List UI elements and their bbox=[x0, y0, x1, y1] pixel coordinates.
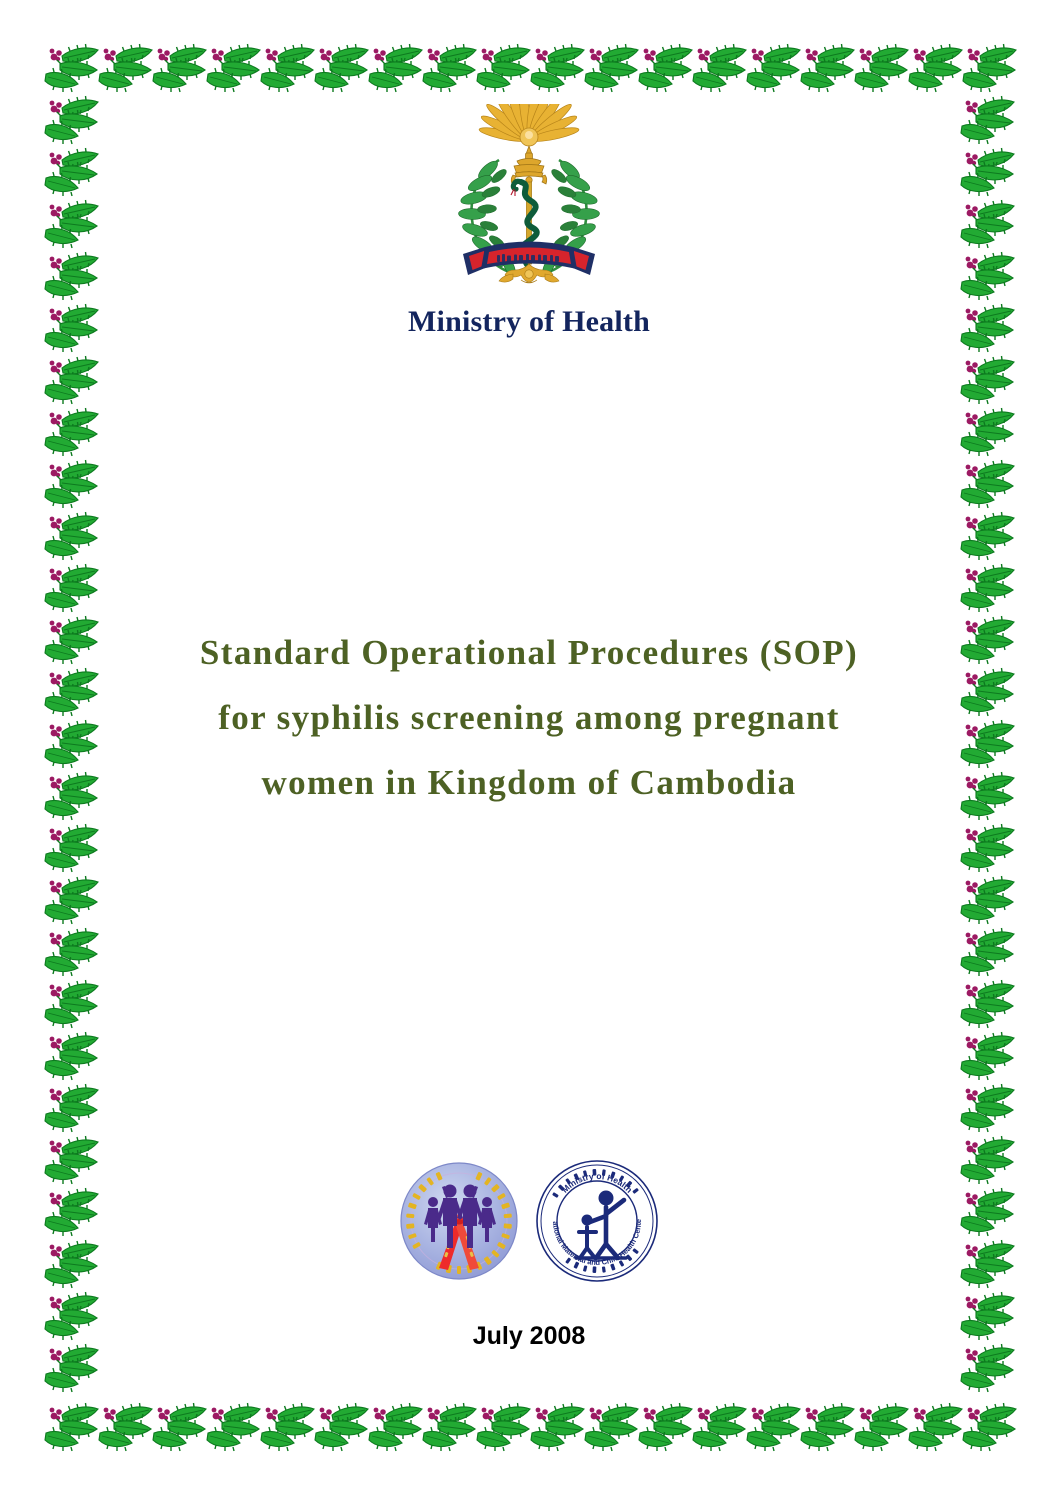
holly-leaf-ornament-icon bbox=[688, 1399, 750, 1457]
title-line-2: for syphilis screening among pregnant bbox=[60, 685, 998, 750]
title-line-3: women in Kingdom of Cambodia bbox=[60, 750, 998, 815]
nmchc-logo: Ministry of Health National Maternal and… bbox=[534, 1158, 660, 1284]
emblem-container bbox=[0, 104, 1058, 299]
holly-leaf-ornament-icon bbox=[958, 40, 1020, 98]
holly-leaf-ornament-icon bbox=[956, 1080, 1018, 1138]
holly-leaf-ornament-icon bbox=[956, 352, 1018, 410]
holly-leaf-ornament-icon bbox=[958, 1399, 1020, 1457]
holly-leaf-ornament-icon bbox=[956, 560, 1018, 618]
holly-leaf-ornament-icon bbox=[40, 560, 102, 618]
holly-leaf-ornament-icon bbox=[956, 404, 1018, 462]
holly-leaf-ornament-icon bbox=[796, 1399, 858, 1457]
holly-leaf-ornament-icon bbox=[526, 40, 588, 98]
holly-leaf-ornament-icon bbox=[310, 1399, 372, 1457]
document-cover-page: Ministry of Health Standard Operational … bbox=[0, 0, 1058, 1497]
holly-leaf-ornament-icon bbox=[472, 40, 534, 98]
holly-leaf-ornament-icon bbox=[40, 456, 102, 514]
ministry-of-health-label: Ministry of Health bbox=[0, 305, 1058, 339]
holly-leaf-ornament-icon bbox=[40, 352, 102, 410]
nchads-logo bbox=[398, 1160, 520, 1282]
holly-leaf-ornament-icon bbox=[956, 872, 1018, 930]
holly-leaf-ornament-icon bbox=[956, 1028, 1018, 1086]
holly-leaf-ornament-icon bbox=[256, 40, 318, 98]
title-line-1: Standard Operational Procedures (SOP) bbox=[60, 620, 998, 685]
holly-leaf-ornament-icon bbox=[202, 1399, 264, 1457]
holly-leaf-ornament-icon bbox=[40, 404, 102, 462]
holly-leaf-ornament-icon bbox=[742, 1399, 804, 1457]
holly-leaf-ornament-icon bbox=[850, 1399, 912, 1457]
holly-leaf-ornament-icon bbox=[580, 40, 642, 98]
holly-leaf-ornament-icon bbox=[202, 40, 264, 98]
holly-leaf-ornament-icon bbox=[364, 40, 426, 98]
ministry-of-health-emblem-icon bbox=[429, 104, 629, 294]
holly-leaf-ornament-icon bbox=[956, 924, 1018, 982]
holly-leaf-ornament-icon bbox=[40, 1399, 102, 1457]
holly-leaf-ornament-icon bbox=[148, 1399, 210, 1457]
holly-leaf-ornament-icon bbox=[580, 1399, 642, 1457]
holly-leaf-ornament-icon bbox=[472, 1399, 534, 1457]
holly-leaf-ornament-icon bbox=[956, 976, 1018, 1034]
holly-leaf-ornament-icon bbox=[256, 1399, 318, 1457]
holly-leaf-ornament-icon bbox=[688, 40, 750, 98]
holly-leaf-ornament-icon bbox=[904, 40, 966, 98]
holly-leaf-ornament-icon bbox=[956, 508, 1018, 566]
holly-leaf-ornament-icon bbox=[956, 456, 1018, 514]
holly-leaf-ornament-icon bbox=[40, 924, 102, 982]
holly-leaf-ornament-icon bbox=[148, 40, 210, 98]
holly-leaf-ornament-icon bbox=[310, 40, 372, 98]
holly-leaf-ornament-icon bbox=[40, 872, 102, 930]
page-title: Standard Operational Procedures (SOP) fo… bbox=[60, 620, 998, 815]
holly-leaf-ornament-icon bbox=[956, 820, 1018, 878]
holly-leaf-ornament-icon bbox=[796, 40, 858, 98]
holly-leaf-ornament-icon bbox=[40, 976, 102, 1034]
holly-leaf-ornament-icon bbox=[40, 1028, 102, 1086]
holly-leaf-ornament-icon bbox=[634, 1399, 696, 1457]
holly-leaf-ornament-icon bbox=[904, 1399, 966, 1457]
publication-date: July 2008 bbox=[0, 1322, 1058, 1351]
holly-leaf-ornament-icon bbox=[40, 40, 102, 98]
holly-leaf-ornament-icon bbox=[94, 1399, 156, 1457]
organization-logos: Ministry of Health National Maternal and… bbox=[0, 1158, 1058, 1284]
holly-leaf-ornament-icon bbox=[364, 1399, 426, 1457]
holly-leaf-ornament-icon bbox=[418, 40, 480, 98]
holly-leaf-ornament-icon bbox=[40, 1080, 102, 1138]
holly-leaf-ornament-icon bbox=[94, 40, 156, 98]
holly-leaf-ornament-icon bbox=[40, 820, 102, 878]
holly-leaf-ornament-icon bbox=[40, 508, 102, 566]
holly-leaf-ornament-icon bbox=[418, 1399, 480, 1457]
holly-leaf-ornament-icon bbox=[742, 40, 804, 98]
holly-leaf-ornament-icon bbox=[850, 40, 912, 98]
holly-leaf-ornament-icon bbox=[526, 1399, 588, 1457]
holly-leaf-ornament-icon bbox=[634, 40, 696, 98]
